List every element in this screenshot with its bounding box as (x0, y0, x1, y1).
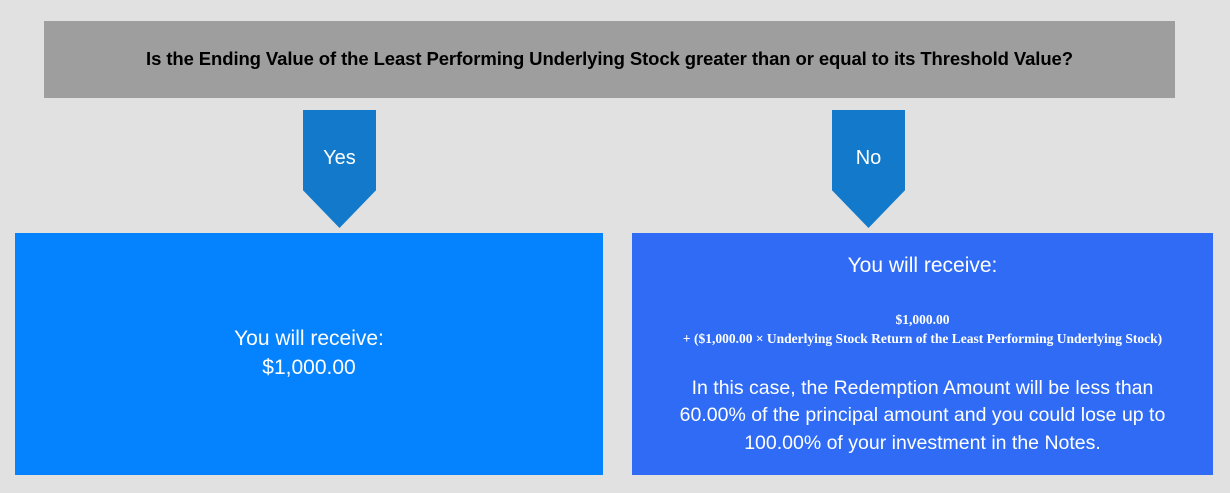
no-formula-line-2: + ($1,000.00 × Underlying Stock Return o… (683, 329, 1162, 349)
no-outcome-box: You will receive: $1,000.00 + ($1,000.00… (632, 233, 1213, 475)
no-outcome-warning: In this case, the Redemption Amount will… (658, 375, 1188, 458)
flowchart-diagram: Is the Ending Value of the Least Perform… (0, 0, 1230, 493)
no-branch-label: No (832, 148, 905, 168)
no-receive-lead: You will receive: (848, 252, 998, 281)
yes-branch-arrow: Yes (303, 110, 376, 228)
yes-outcome-box: You will receive: $1,000.00 (15, 233, 603, 475)
question-text: Is the Ending Value of the Least Perform… (146, 46, 1073, 72)
yes-branch-label: Yes (303, 148, 376, 168)
no-branch-arrow: No (832, 110, 905, 228)
yes-receive-lead: You will receive: (234, 325, 384, 354)
no-payout-formula: $1,000.00 + ($1,000.00 × Underlying Stoc… (683, 310, 1162, 349)
no-formula-line-1: $1,000.00 (683, 310, 1162, 330)
yes-receive-amount: $1,000.00 (262, 354, 355, 383)
question-bar: Is the Ending Value of the Least Perform… (44, 21, 1175, 98)
